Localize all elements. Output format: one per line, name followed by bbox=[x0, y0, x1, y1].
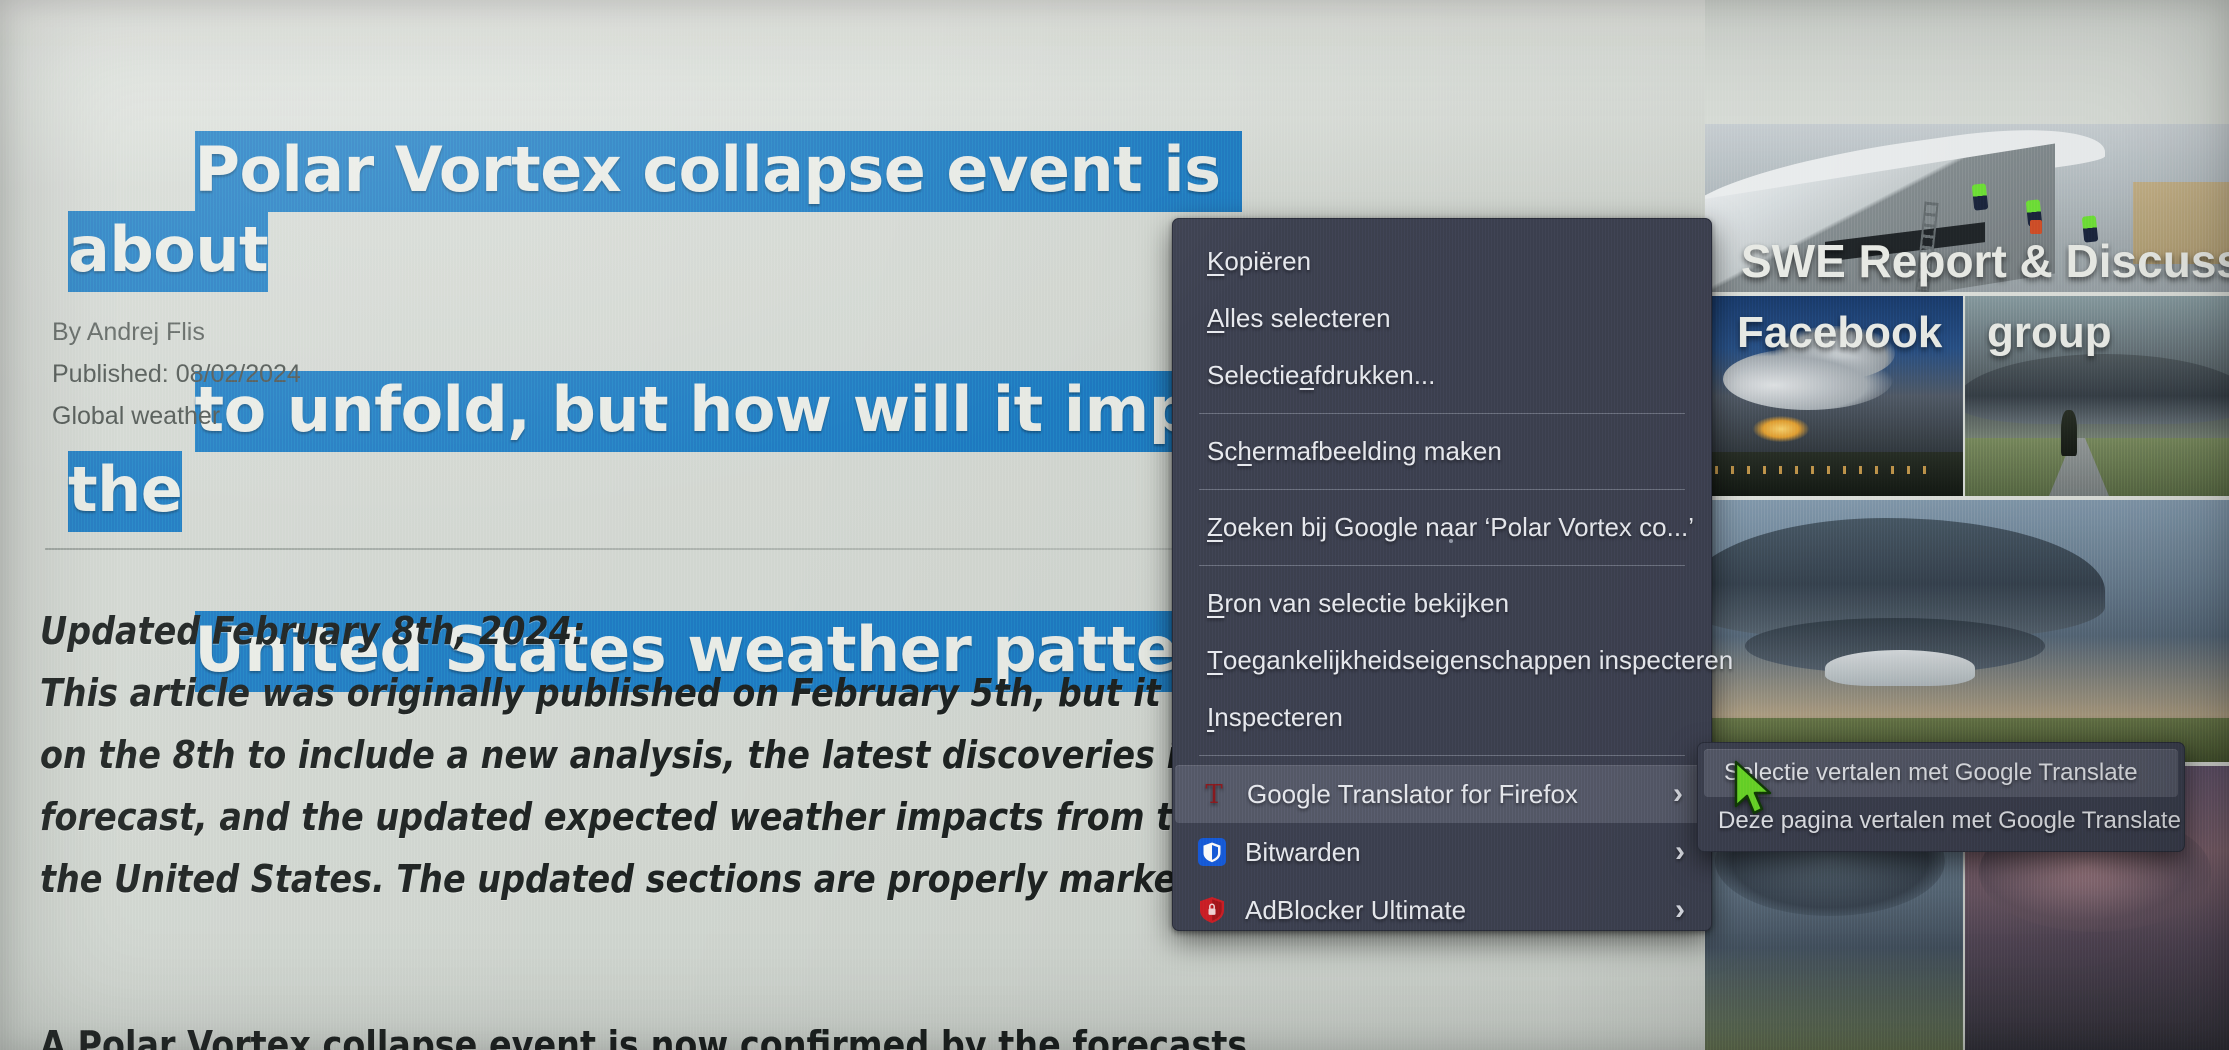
menu-item-adblocker-ultimate[interactable]: AdBlocker Ultimate › bbox=[1173, 881, 1711, 939]
facebook-caption: Facebook bbox=[1737, 308, 1942, 358]
bitwarden-shield-icon bbox=[1195, 835, 1229, 869]
context-menu[interactable]: Kopiëren Alles selecteren Selectie afdru… bbox=[1172, 218, 1712, 931]
menu-accel-key: T bbox=[1207, 645, 1223, 676]
supercell-photo-tile[interactable] bbox=[1705, 500, 2229, 762]
menu-item-bron-van-selectie-bekijken[interactable]: Bron van selectie bekijken bbox=[1173, 575, 1711, 632]
menu-separator bbox=[1199, 565, 1685, 566]
roadside-tree bbox=[2061, 410, 2077, 456]
menu-accel-key: Z bbox=[1207, 512, 1223, 543]
swe-report-banner[interactable]: SWE Report & Discuss bbox=[1705, 124, 2229, 292]
menu-item-label: ron van selectie bekijken bbox=[1224, 588, 1509, 619]
orange-bucket bbox=[2030, 220, 2042, 234]
menu-item-kopieren[interactable]: Kopiëren bbox=[1173, 233, 1711, 290]
town-lights bbox=[1715, 466, 1935, 474]
menu-separator bbox=[1199, 489, 1685, 490]
svg-text:T: T bbox=[1205, 780, 1223, 808]
facebook-promo-tile[interactable]: Facebook bbox=[1705, 296, 1963, 496]
menu-item-zoeken-bij-google[interactable]: Zoeken bij Google naar ‘Polar Vortex co.… bbox=[1173, 499, 1711, 556]
menu-separator bbox=[1199, 755, 1685, 756]
menu-item-toegankelijkheidseigenschappen-inspecteren[interactable]: Toegankelijkheidseigenschappen inspecter… bbox=[1173, 632, 1711, 689]
group-caption: group bbox=[1987, 308, 2112, 358]
menu-item-inspecteren[interactable]: Inspecteren bbox=[1173, 689, 1711, 746]
group-promo-tile[interactable]: group bbox=[1965, 296, 2229, 496]
roof-worker bbox=[1972, 183, 1989, 210]
menu-accel-key: A bbox=[1207, 303, 1224, 334]
menu-accel-key: B bbox=[1207, 588, 1224, 619]
menu-accel-key: h bbox=[1237, 436, 1251, 467]
sidebar-promo-images: SWE Report & Discuss Facebook group bbox=[1705, 0, 2229, 1050]
headline-line-1: Polar Vortex collapse event is about bbox=[68, 131, 1242, 292]
body-line-2: This article was originally published on… bbox=[40, 662, 1254, 724]
menu-item-label: ermafbeelding maken bbox=[1252, 436, 1502, 467]
body-line-1: Updated February 8th, 2024: bbox=[40, 600, 1254, 662]
article-body: Updated February 8th, 2024: This article… bbox=[40, 600, 1254, 910]
wall-cloud bbox=[1825, 650, 1975, 686]
mouse-cursor bbox=[1733, 760, 1779, 822]
chevron-right-icon: › bbox=[1675, 895, 1685, 925]
menu-item-label: lles selecteren bbox=[1224, 303, 1390, 334]
chevron-right-icon: › bbox=[1673, 779, 1683, 809]
adblocker-shield-lock-icon bbox=[1195, 893, 1229, 927]
menu-item-label: AdBlocker Ultimate bbox=[1245, 895, 1466, 926]
menu-item-label: fdrukken... bbox=[1314, 360, 1435, 391]
menu-accel-key: K bbox=[1207, 246, 1224, 277]
article-next-paragraph: A Polar Vortex collapse event is now con… bbox=[40, 1022, 1254, 1050]
menu-item-google-translator-for-firefox[interactable]: T Google Translator for Firefox › bbox=[1175, 765, 1709, 823]
setting-sun bbox=[1753, 416, 1809, 442]
chevron-right-icon: › bbox=[1675, 837, 1685, 867]
menu-item-label: oegankelijkheidseigenschappen inspectere… bbox=[1223, 645, 1733, 676]
menu-item-label: Google Translator for Firefox bbox=[1247, 779, 1578, 810]
article-category[interactable]: Global weather bbox=[52, 402, 220, 431]
menu-item-prefix: Selectie bbox=[1207, 360, 1300, 391]
body-line-5: the United States. The updated sections … bbox=[40, 848, 1254, 910]
body-line-3: on the 8th to include a new analysis, th… bbox=[40, 724, 1254, 786]
menu-item-schermafbeelding-maken[interactable]: Schermafbeelding maken bbox=[1173, 423, 1711, 480]
swe-banner-caption: SWE Report & Discuss bbox=[1741, 234, 2229, 288]
menu-item-prefix: Sc bbox=[1207, 436, 1237, 467]
menu-item-label: nspecteren bbox=[1214, 702, 1343, 733]
body-line-4: forecast, and the updated expected weath… bbox=[40, 786, 1254, 848]
translator-t-icon: T bbox=[1197, 777, 1231, 811]
menu-item-alles-selecteren[interactable]: Alles selecteren bbox=[1173, 290, 1711, 347]
landscape-ground bbox=[1705, 452, 1963, 496]
menu-item-label: Bitwarden bbox=[1245, 837, 1361, 868]
menu-accel-key: a bbox=[1300, 360, 1314, 391]
shelf-cloud bbox=[1965, 354, 2229, 424]
article-published-date: Published: 08/02/2024 bbox=[52, 360, 301, 389]
menu-item-bitwarden[interactable]: Bitwarden › bbox=[1173, 823, 1711, 881]
menu-item-label: oeken bij Google naar ‘Polar Vortex co..… bbox=[1223, 512, 1694, 543]
menu-item-selectie-afdrukken[interactable]: Selectie afdrukken... bbox=[1173, 347, 1711, 404]
headline-line-2: to unfold, but how will it impact the bbox=[68, 371, 1320, 532]
browser-page: Polar Vortex collapse event is about to … bbox=[0, 0, 2229, 1050]
article-byline: By Andrej Flis bbox=[52, 318, 205, 347]
menu-item-label: opiëren bbox=[1224, 246, 1311, 277]
menu-separator bbox=[1199, 413, 1685, 414]
